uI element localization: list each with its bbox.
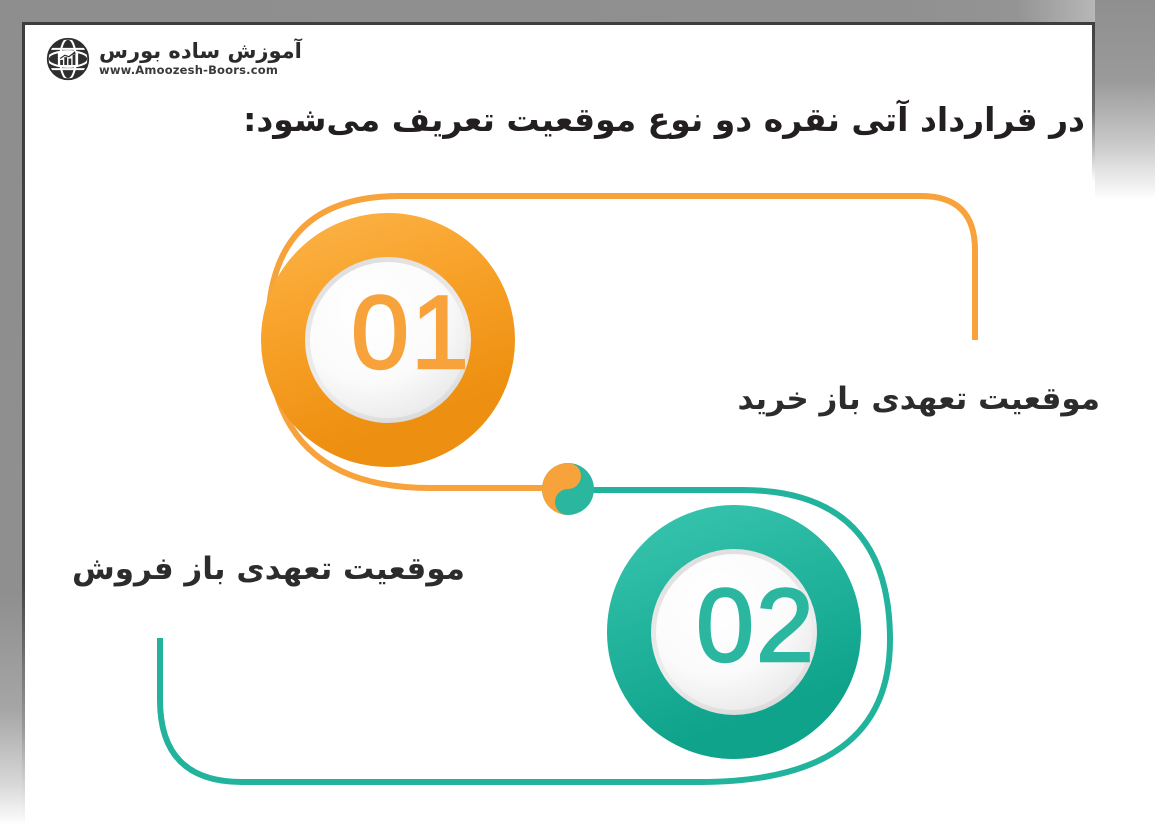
step-number-01: 01 xyxy=(336,281,486,385)
brand-website: www.Amoozesh-Boors.com xyxy=(99,65,278,77)
step-label-01: موقعیت تعهدی باز خرید xyxy=(738,381,1101,417)
brand-text: آموزش ساده بورس www.Amoozesh-Boors.com xyxy=(99,41,302,77)
globe-chart-icon xyxy=(45,36,91,82)
step-number-02: 02 xyxy=(676,574,836,678)
frame-border-top xyxy=(0,0,1155,22)
frame-border-left xyxy=(0,0,22,826)
frame-rule-top xyxy=(22,22,1095,25)
brand-logo[interactable]: آموزش ساده بورس www.Amoozesh-Boors.com xyxy=(45,36,302,82)
frame-border-right xyxy=(1095,0,1155,200)
brand-name: آموزش ساده بورس xyxy=(99,41,302,62)
step-label-02: موقعیت تعهدی باز فروش xyxy=(72,551,465,587)
frame-rule-left xyxy=(22,22,25,826)
page-title: در قرارداد آتی نقره دو نوع موقعیت تعریف … xyxy=(85,100,1085,139)
frame-rule-right xyxy=(1092,22,1095,182)
infographic-canvas: آموزش ساده بورس www.Amoozesh-Boors.com د… xyxy=(0,0,1155,826)
page-surface xyxy=(25,25,1092,826)
